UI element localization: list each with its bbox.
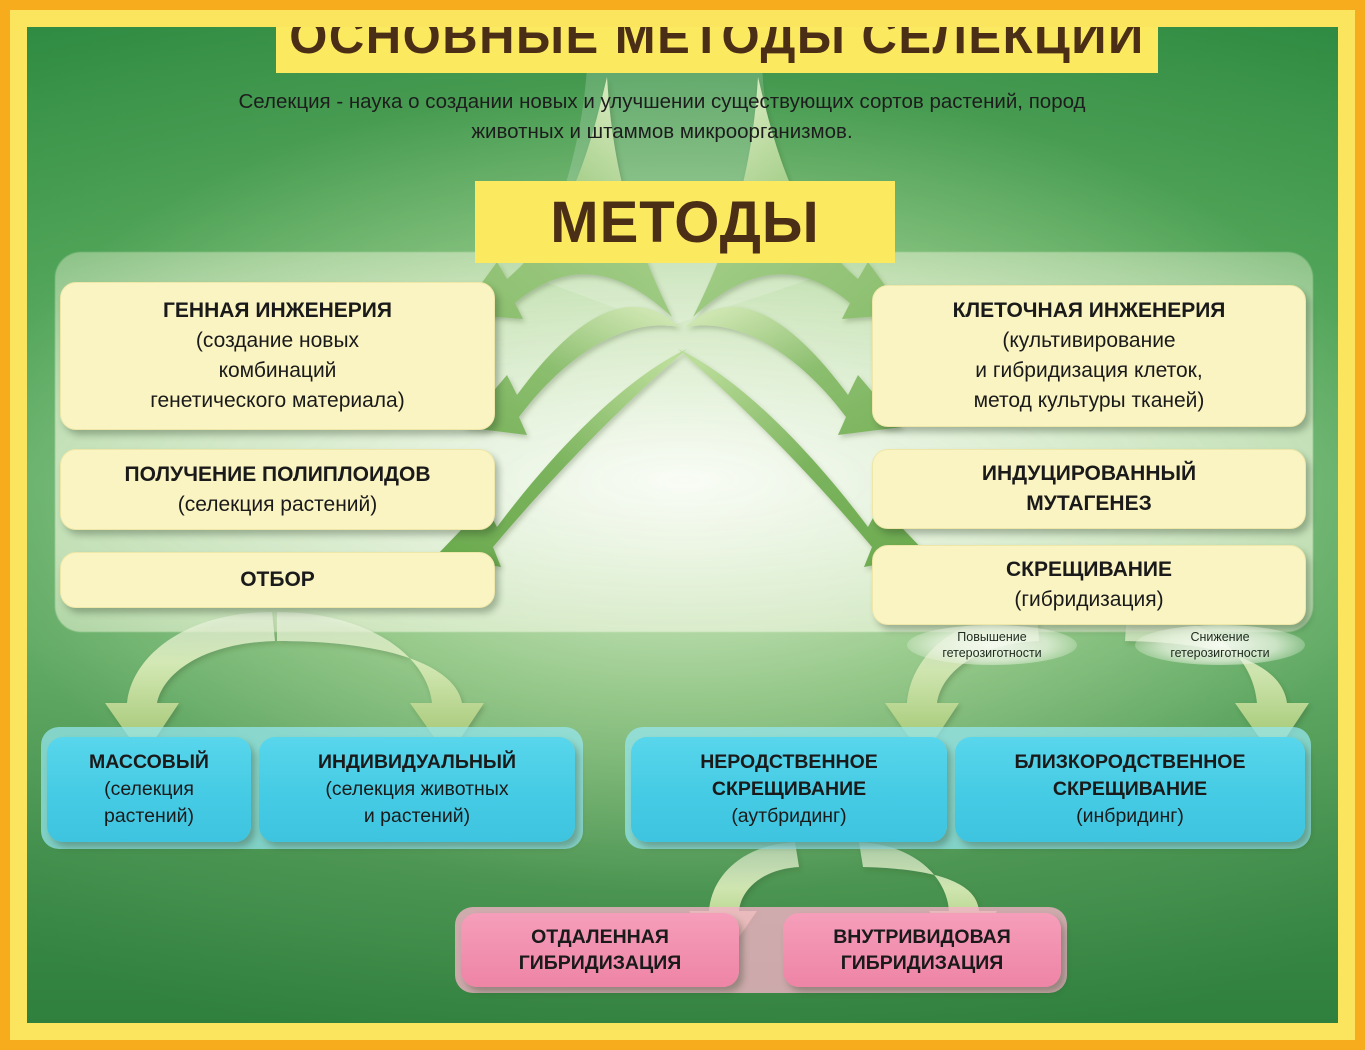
hybridization-title-distant-1: ОТДАЛЕННАЯ: [469, 924, 731, 950]
poster-stage: ОСНОВНЫЕ МЕТОДЫ СЕЛЕКЦИИ Селекция - наук…: [27, 27, 1338, 1023]
method-title-induced-mutagenesis-1: ИНДУЦИРОВАННЫЙ: [881, 459, 1297, 489]
method-box-cell-engineering[interactable]: КЛЕТОЧНАЯ ИНЖЕНЕРИЯ (культивирование и г…: [872, 285, 1306, 427]
poster-title-banner: ОСНОВНЫЕ МЕТОДЫ СЕЛЕКЦИИ: [276, 27, 1158, 73]
crossing-type-detail: (аутбридинг): [639, 803, 939, 830]
method-box-selection[interactable]: ОТБОР: [60, 552, 495, 608]
page-title: ОСНОВНЫЕ МЕТОДЫ СЕЛЕКЦИИ: [289, 27, 1144, 65]
selection-methods-poster: ОСНОВНЫЕ МЕТОДЫ СЕЛЕКЦИИ Селекция - наук…: [0, 0, 1365, 1050]
annotation-decrease-heterozygosity: Снижение гетерозиготности: [1135, 625, 1305, 665]
hybridization-title-intraspecific-1: ВНУТРИВИДОВАЯ: [791, 924, 1053, 950]
method-title-induced-mutagenesis-2: МУТАГЕНЕЗ: [881, 489, 1297, 519]
method-title-genetic-engineering: ГЕННАЯ ИНЖЕНЕРИЯ: [69, 296, 486, 326]
annotation-line-1: Снижение: [1190, 630, 1249, 644]
methods-banner: МЕТОДЫ: [475, 181, 895, 263]
selection-type-title-individual: ИНДИВИДУАЛЬНЫЙ: [267, 749, 567, 776]
method-title-cell-engineering: КЛЕТОЧНАЯ ИНЖЕНЕРИЯ: [881, 296, 1297, 326]
method-detail-line: генетического материала): [69, 386, 486, 416]
method-detail-line: и гибридизация клеток,: [881, 356, 1297, 386]
method-box-crossing[interactable]: СКРЕЩИВАНИЕ (гибридизация): [872, 545, 1306, 625]
method-title-selection: ОТБОР: [69, 565, 486, 595]
hybridization-type-intraspecific[interactable]: ВНУТРИВИДОВАЯ ГИБРИДИЗАЦИЯ: [783, 913, 1061, 987]
annotation-line-1: Повышение: [957, 630, 1026, 644]
subtitle-line-1: Селекция - наука о создании новых и улуч…: [238, 90, 923, 113]
selection-type-detail: растений): [55, 803, 243, 830]
annotation-increase-heterozygosity: Повышение гетерозиготности: [907, 625, 1077, 665]
methods-banner-label: МЕТОДЫ: [550, 189, 819, 256]
crossing-type-title-inbreeding-1: БЛИЗКОРОДСТВЕННОЕ: [963, 749, 1297, 776]
selection-type-individual[interactable]: ИНДИВИДУАЛЬНЫЙ (селекция животных и раст…: [259, 737, 575, 842]
crossing-type-title-outbreeding-2: СКРЕЩИВАНИЕ: [639, 776, 939, 803]
hybridization-title-distant-2: ГИБРИДИЗАЦИЯ: [469, 950, 731, 976]
method-detail-line: метод культуры тканей): [881, 386, 1297, 416]
method-box-induced-mutagenesis[interactable]: ИНДУЦИРОВАННЫЙ МУТАГЕНЕЗ: [872, 449, 1306, 529]
annotation-line-2: гетерозиготности: [1170, 646, 1269, 660]
method-detail-line: (создание новых: [69, 326, 486, 356]
selection-type-detail: (селекция: [55, 776, 243, 803]
method-detail-line: (селекция растений): [69, 490, 486, 520]
crossing-type-detail: (инбридинг): [963, 803, 1297, 830]
selection-type-mass[interactable]: МАССОВЫЙ (селекция растений): [47, 737, 251, 842]
crossing-type-title-outbreeding-1: НЕРОДСТВЕННОЕ: [639, 749, 939, 776]
crossing-type-outbreeding[interactable]: НЕРОДСТВЕННОЕ СКРЕЩИВАНИЕ (аутбридинг): [631, 737, 947, 842]
poster-subtitle: Селекция - наука о создании новых и улуч…: [217, 87, 1107, 147]
hybridization-type-distant[interactable]: ОТДАЛЕННАЯ ГИБРИДИЗАЦИЯ: [461, 913, 739, 987]
method-detail-line: (культивирование: [881, 326, 1297, 356]
selection-type-title-mass: МАССОВЫЙ: [55, 749, 243, 776]
method-detail-line: комбинаций: [69, 356, 486, 386]
method-box-polyploids[interactable]: ПОЛУЧЕНИЕ ПОЛИПЛОИДОВ (селекция растений…: [60, 449, 495, 530]
crossing-type-title-inbreeding-2: СКРЕЩИВАНИЕ: [963, 776, 1297, 803]
method-box-genetic-engineering[interactable]: ГЕННАЯ ИНЖЕНЕРИЯ (создание новых комбина…: [60, 282, 495, 430]
crossing-type-inbreeding[interactable]: БЛИЗКОРОДСТВЕННОЕ СКРЕЩИВАНИЕ (инбридинг…: [955, 737, 1305, 842]
annotation-line-2: гетерозиготности: [942, 646, 1041, 660]
selection-type-detail: (селекция животных: [267, 776, 567, 803]
method-detail-line: (гибридизация): [881, 585, 1297, 615]
method-title-crossing: СКРЕЩИВАНИЕ: [881, 555, 1297, 585]
selection-type-detail: и растений): [267, 803, 567, 830]
method-title-polyploids: ПОЛУЧЕНИЕ ПОЛИПЛОИДОВ: [69, 460, 486, 490]
hybridization-title-intraspecific-2: ГИБРИДИЗАЦИЯ: [791, 950, 1053, 976]
